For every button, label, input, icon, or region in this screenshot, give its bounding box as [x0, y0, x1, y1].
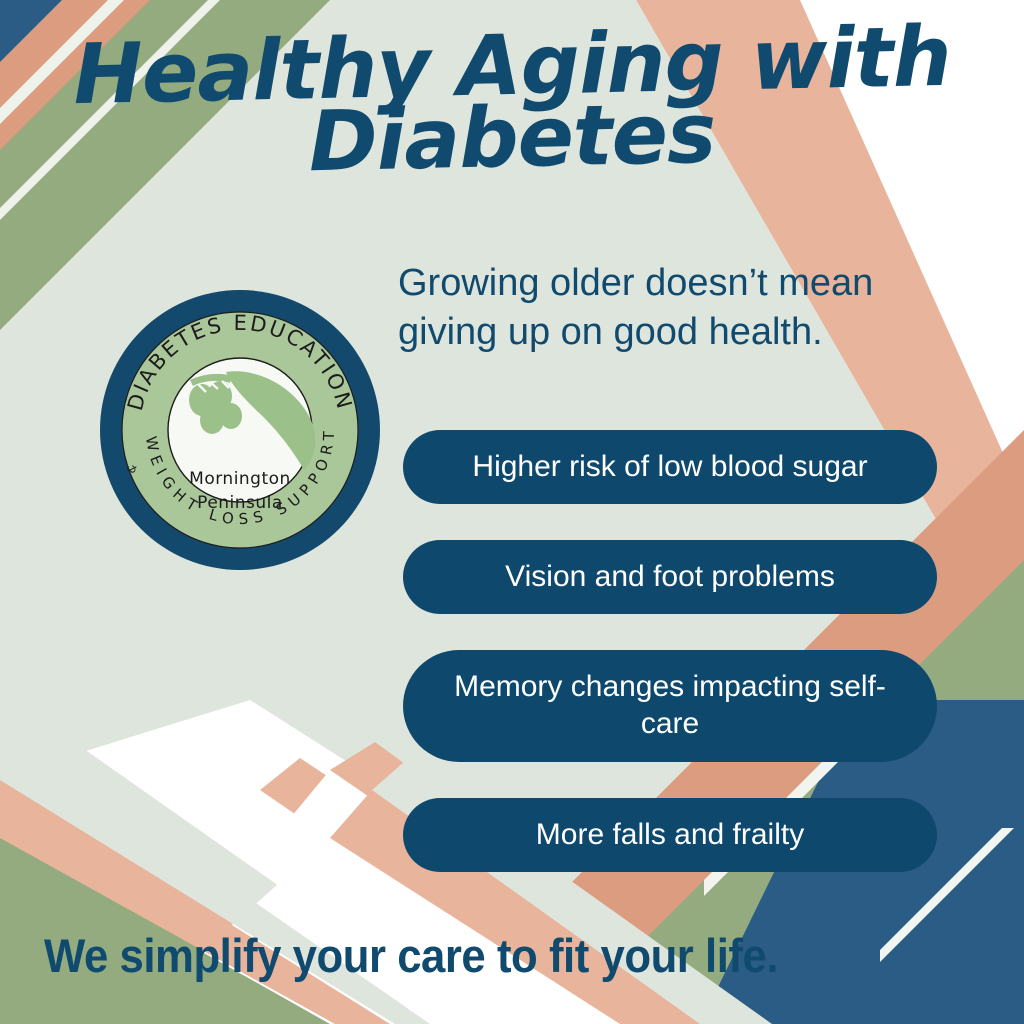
poster-canvas: Mornington Peninsula DIABETES EDUCATION …: [0, 0, 1024, 1024]
gumnut-4: [220, 403, 242, 429]
page-title: Healthy Aging with Diabetes: [0, 28, 1024, 177]
tagline: We simplify your care to fit your life.: [44, 928, 778, 983]
gumnut-3: [200, 406, 224, 434]
risk-list: Higher risk of low blood sugar Vision an…: [403, 430, 937, 908]
logo-badge: Mornington Peninsula DIABETES EDUCATION …: [98, 288, 382, 572]
list-item[interactable]: More falls and frailty: [403, 798, 937, 872]
list-item[interactable]: Memory changes impacting self-care: [403, 650, 937, 762]
logo-inner-line1: Mornington: [189, 469, 291, 489]
list-item[interactable]: Higher risk of low blood sugar: [403, 430, 937, 504]
list-item[interactable]: Vision and foot problems: [403, 540, 937, 614]
subtitle: Growing older doesn’t mean giving up on …: [398, 259, 928, 356]
